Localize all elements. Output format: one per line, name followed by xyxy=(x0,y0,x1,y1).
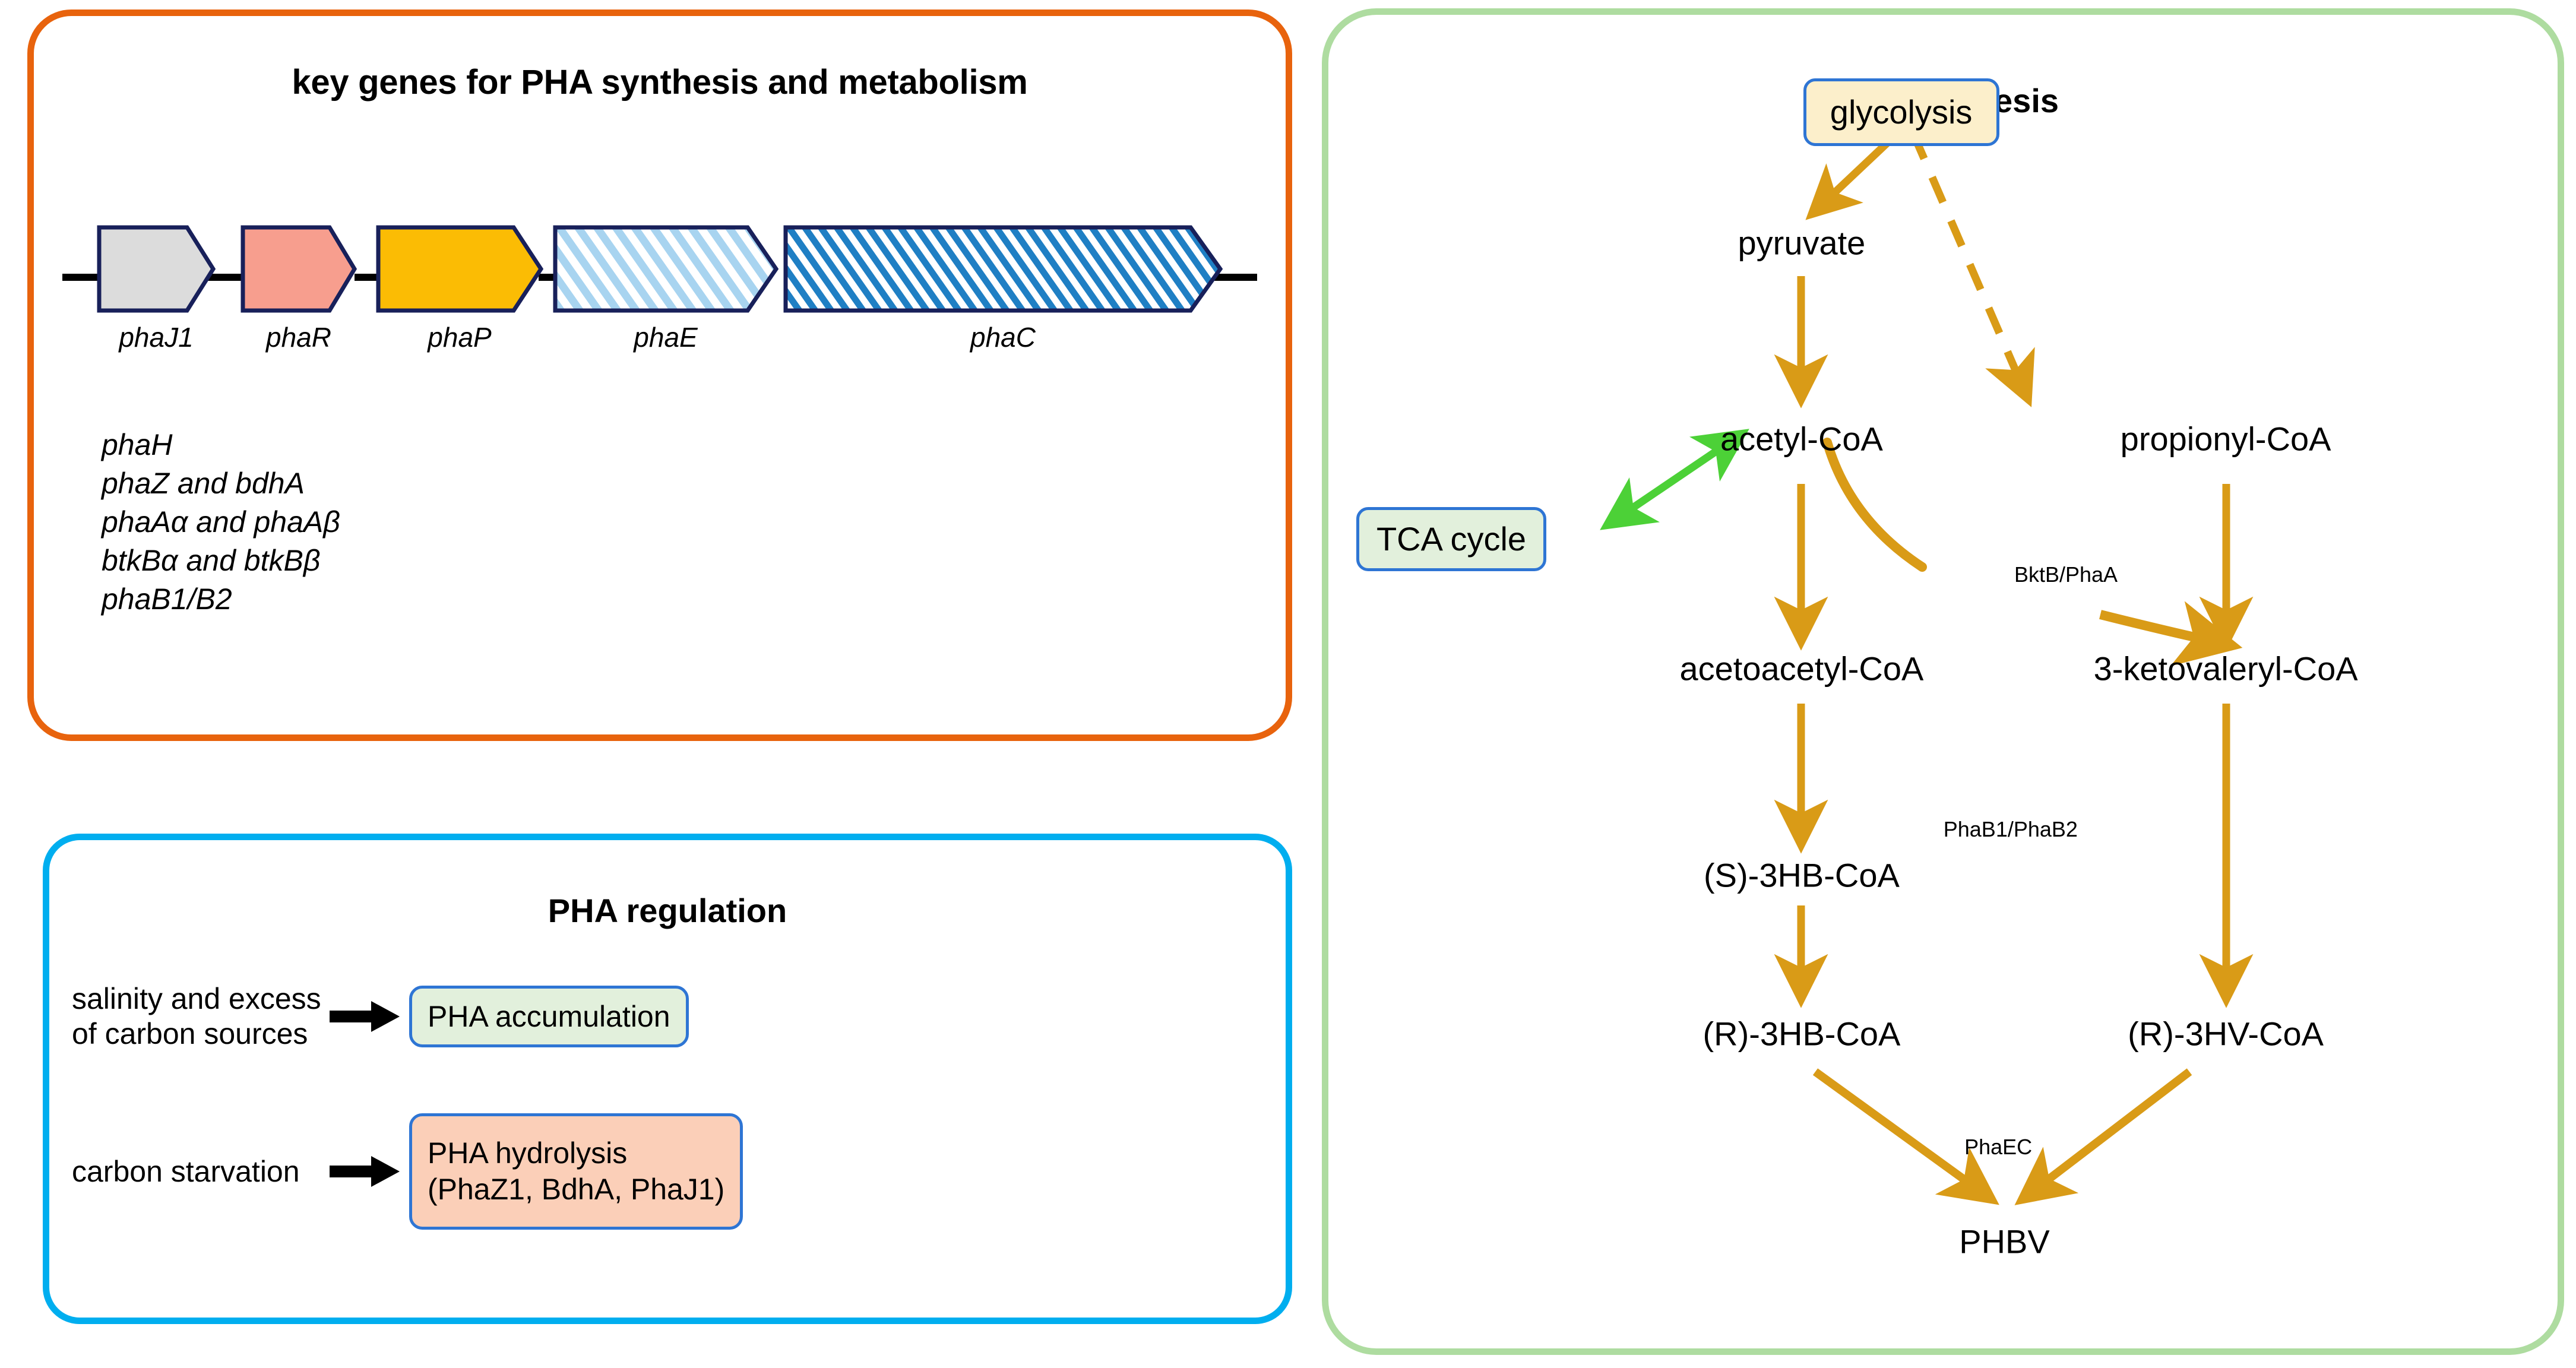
pha-hydrolysis-box[interactable]: PHA hydrolysis (PhaZ1, BdhA, PhaJ1) xyxy=(409,1113,743,1230)
gene-list-item: phaH xyxy=(102,426,340,464)
node-3-ketovaleryl-coa: 3-ketovaleryl-CoA xyxy=(2094,649,2358,688)
node-r-3hb-coa-label: (R)-3HB-CoA xyxy=(1702,1015,1900,1052)
gene-arrow-phaJ1[interactable] xyxy=(97,225,216,313)
edge-acetyl-coa-curved-bktb xyxy=(1827,442,1922,567)
pha-accumulation-label: PHA accumulation xyxy=(428,999,670,1035)
pha-accumulation-box[interactable]: PHA accumulation xyxy=(409,986,689,1047)
enzyme-bktb-phaa-text: BktB/PhaA xyxy=(2014,562,2118,587)
operon-backbone-seg2 xyxy=(355,274,378,281)
gene-arrow-phaC[interactable] xyxy=(783,225,1223,313)
gene-label-phaJ1: phaJ1 xyxy=(97,321,216,353)
gene-list-item: phaB1/B2 xyxy=(102,580,340,619)
edge-r-3hb-coa-phbv xyxy=(1815,1072,1988,1196)
gene-list: phaH phaZ and bdhA phaAα and phaAβ btkBα… xyxy=(102,426,340,619)
gene-arrow-phaE[interactable] xyxy=(553,225,779,313)
enzyme-label-bktb-phaa: BktB/PhaA xyxy=(2014,562,2118,587)
edge-bktb-3-ketovaleryl-coa xyxy=(2100,615,2226,644)
gene-list-item-text: phaH xyxy=(102,428,173,461)
gene-arrow-phaR[interactable] xyxy=(240,225,357,313)
pha-hydrolysis-label-line2: (PhaZ1, BdhA, PhaJ1) xyxy=(428,1171,724,1208)
gene-list-item: phaAα and phaAβ xyxy=(102,503,340,541)
node-pyruvate-label: pyruvate xyxy=(1738,224,1866,262)
enzyme-phaec-text: PhaEC xyxy=(1964,1135,2032,1159)
operon-backbone-left xyxy=(62,274,100,281)
regulation-condition-label: salinity and excess of carbon sources xyxy=(72,981,321,1052)
enzyme-label-phab1-phab2: PhaB1/PhaB2 xyxy=(1944,817,2078,842)
edge-acetyl-coa-tca-cycle xyxy=(1611,436,1738,522)
gene-label-phaR: phaR xyxy=(240,321,357,353)
panel-pha-regulation-title: PHA regulation xyxy=(49,891,1286,930)
regulation-row-hydrolysis: carbon starvation PHA hydrolysis (PhaZ1,… xyxy=(72,1113,743,1230)
node-r-3hv-coa: (R)-3HV-CoA xyxy=(2128,1014,2324,1053)
gene-label-phaP: phaP xyxy=(376,321,543,353)
pha-hydrolysis-label-line1: PHA hydrolysis xyxy=(428,1135,724,1171)
right-arrow-icon xyxy=(330,1154,401,1189)
node-acetyl-coa-label: acetyl-CoA xyxy=(1720,420,1883,458)
node-pyruvate: pyruvate xyxy=(1738,224,1866,262)
node-phbv-label: PHBV xyxy=(1959,1223,2050,1261)
node-phbv: PHBV xyxy=(1959,1223,2050,1261)
regulation-row-accumulation: salinity and excess of carbon sources PH… xyxy=(72,981,689,1052)
gene-list-item-text: phaAα and phaAβ xyxy=(102,505,340,539)
diagram-canvas: key genes for PHA synthesis and metaboli… xyxy=(0,0,2576,1368)
edge-glycolysis-propionyl-coa xyxy=(1913,134,2026,395)
node-s-3hb-coa: (S)-3HB-CoA xyxy=(1704,856,1900,894)
panel-key-genes: key genes for PHA synthesis and metaboli… xyxy=(27,9,1292,741)
node-tca-cycle[interactable]: TCA cycle xyxy=(1356,507,1546,571)
node-acetoacetyl-coa: acetoacetyl-CoA xyxy=(1680,649,1924,688)
node-glycolysis[interactable]: glycolysis xyxy=(1803,78,1999,146)
operon-gene-map: phaJ1 phaR phaP phaE phaC xyxy=(34,212,1286,343)
gene-label-phaE: phaE xyxy=(553,321,779,353)
node-3-ketovaleryl-coa-label: 3-ketovaleryl-CoA xyxy=(2094,650,2358,687)
node-glycolysis-label: glycolysis xyxy=(1830,93,1973,131)
node-propionyl-coa: propionyl-CoA xyxy=(2121,420,2331,458)
enzyme-phab1-phab2-text: PhaB1/PhaB2 xyxy=(1944,817,2078,841)
gene-list-item-text: phaB1/B2 xyxy=(102,582,232,616)
pathway-graph: glycolysis pyruvate propionyl-CoA acetyl… xyxy=(1328,15,2558,1348)
gene-label-phaC: phaC xyxy=(783,321,1223,353)
pathway-edges xyxy=(1328,15,2558,1348)
gene-list-item-text: btkBα and btkBβ xyxy=(102,544,320,577)
node-s-3hb-coa-label: (S)-3HB-CoA xyxy=(1704,856,1900,894)
gene-list-item-text: phaZ and bdhA xyxy=(102,467,305,500)
node-r-3hb-coa: (R)-3HB-CoA xyxy=(1702,1014,1900,1053)
enzyme-label-phaec: PhaEC xyxy=(1964,1135,2032,1160)
panel-key-genes-title: key genes for PHA synthesis and metaboli… xyxy=(34,62,1286,102)
right-arrow-icon xyxy=(330,999,401,1034)
panel-pha-synthesis: PHA synthesis xyxy=(1322,8,2564,1355)
node-tca-cycle-label: TCA cycle xyxy=(1376,520,1526,558)
edge-r-3hv-coa-phbv xyxy=(2026,1072,2189,1196)
node-acetyl-coa: acetyl-CoA xyxy=(1720,420,1883,458)
regulation-condition-label: carbon starvation xyxy=(72,1154,321,1189)
node-r-3hv-coa-label: (R)-3HV-CoA xyxy=(2128,1015,2324,1052)
gene-list-item: btkBα and btkBβ xyxy=(102,541,340,580)
panel-pha-regulation: PHA regulation salinity and excess of ca… xyxy=(43,834,1292,1324)
gene-arrow-phaP[interactable] xyxy=(376,225,543,313)
node-acetoacetyl-coa-label: acetoacetyl-CoA xyxy=(1680,650,1924,687)
node-propionyl-coa-label: propionyl-CoA xyxy=(2121,420,2331,458)
gene-list-item: phaZ and bdhA xyxy=(102,464,340,503)
